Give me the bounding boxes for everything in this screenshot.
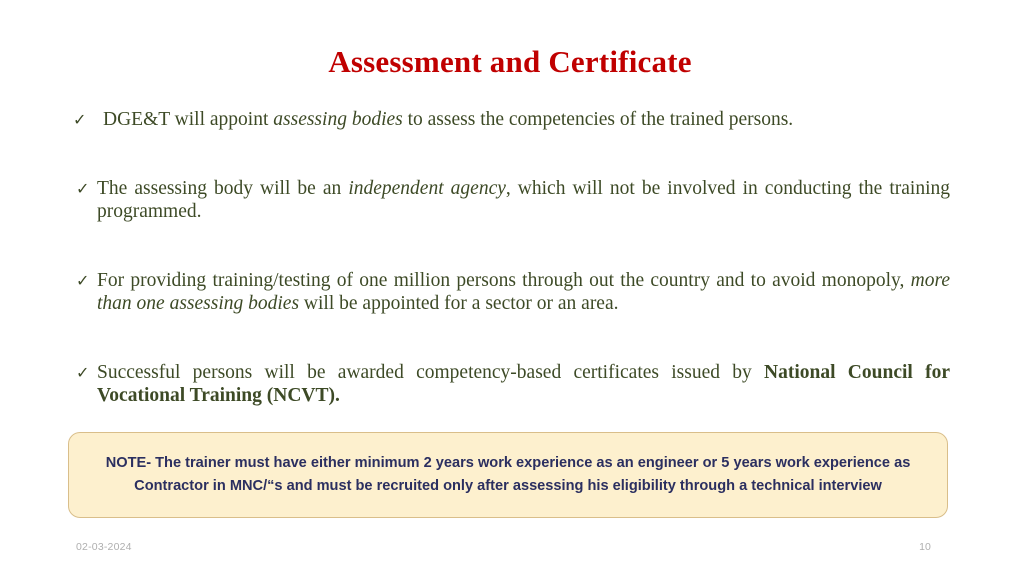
list-item: ✓ Successful persons will be awarded com… <box>72 361 950 408</box>
bullet-one-million-persons-text: For providing training/testing of one mi… <box>97 269 950 316</box>
bullet-independent-agency-text: The assessing body will be an independen… <box>97 177 950 224</box>
footer-page-number: 10 <box>900 541 950 553</box>
list-item: ✓ DGE&T will appoint assessing bodies to… <box>72 108 950 132</box>
note-callout-box: NOTE- The trainer must have either minim… <box>68 432 948 518</box>
check-mark-icon: ✓ <box>76 269 89 292</box>
bullet-assessing-bodies-text: DGE&T will appoint assessing bodies to a… <box>98 108 950 132</box>
text-run: Successful persons will be awarded compe… <box>97 362 764 383</box>
check-mark-icon: ✓ <box>76 177 89 200</box>
text-run: The assessing body will be an <box>97 178 348 199</box>
text-run: will be appointed for a sector or an are… <box>299 293 618 314</box>
check-mark-icon: ✓ <box>73 108 86 131</box>
text-run-italic: assessing bodies <box>273 109 402 130</box>
text-run: to assess the competencies of the traine… <box>403 109 793 130</box>
list-item: ✓ The assessing body will be an independ… <box>72 177 950 224</box>
text-run-italic: independent agency <box>348 178 506 199</box>
note-text: NOTE- The trainer must have either minim… <box>97 452 919 498</box>
text-run: For providing training/testing of one mi… <box>97 270 911 291</box>
slide-canvas: Assessment and Certificate ✓ DGE&T will … <box>0 0 1020 574</box>
text-run: DGE&T will appoint <box>103 109 273 130</box>
check-mark-icon: ✓ <box>76 361 89 384</box>
bullet-list: ✓ DGE&T will appoint assessing bodies to… <box>72 108 950 408</box>
footer-date: 02-03-2024 <box>76 541 132 553</box>
page-title: Assessment and Certificate <box>0 43 1020 81</box>
bullet-ncvt-certificates-text: Successful persons will be awarded compe… <box>97 361 950 408</box>
list-item: ✓ For providing training/testing of one … <box>72 269 950 316</box>
